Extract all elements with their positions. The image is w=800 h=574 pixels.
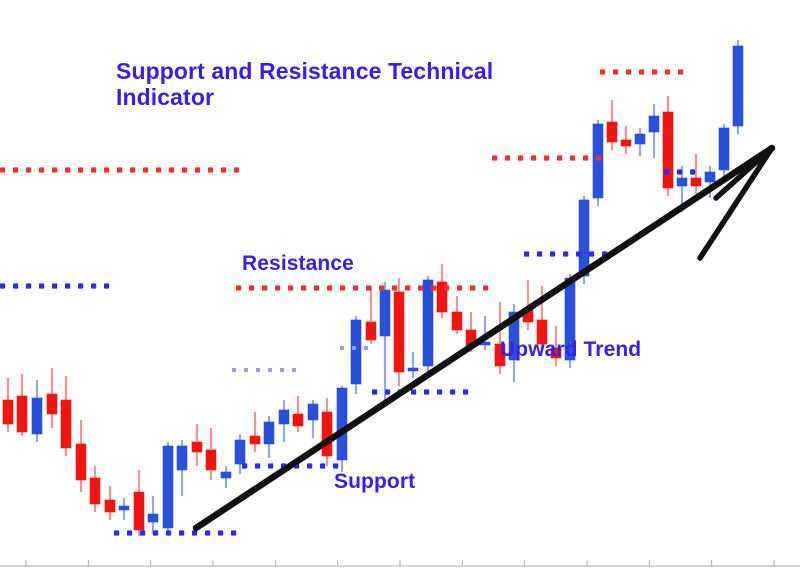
candlestick bbox=[134, 470, 144, 536]
candlestick bbox=[221, 466, 231, 488]
candlestick bbox=[177, 440, 187, 496]
candlestick bbox=[649, 104, 659, 158]
minor-level-mid bbox=[232, 368, 296, 372]
candlestick-series bbox=[3, 40, 743, 536]
resistance-level-mid bbox=[236, 285, 488, 290]
upward-trend-annotation-label: Upward Trend bbox=[500, 338, 641, 362]
candlestick bbox=[719, 124, 729, 178]
candlestick bbox=[452, 296, 462, 334]
candlestick bbox=[733, 40, 743, 134]
candlestick bbox=[408, 352, 418, 378]
candlestick bbox=[293, 396, 303, 432]
candlestick bbox=[394, 278, 404, 386]
candlestick bbox=[206, 428, 216, 480]
resistance-level-top bbox=[600, 69, 683, 74]
candlestick bbox=[32, 380, 42, 442]
candlestick bbox=[250, 412, 260, 452]
candlestick bbox=[366, 286, 376, 344]
candlestick bbox=[279, 400, 289, 442]
candlestick bbox=[593, 120, 603, 206]
support-level-left bbox=[0, 283, 109, 288]
candlestick bbox=[635, 128, 645, 156]
candlestick bbox=[192, 424, 202, 466]
candlestick bbox=[607, 100, 617, 150]
candlestick bbox=[3, 378, 13, 432]
resistance-annotation-label: Resistance bbox=[242, 252, 354, 276]
candlestick bbox=[61, 376, 71, 456]
upward-trend-arrow bbox=[196, 148, 772, 528]
candlestick bbox=[47, 368, 57, 428]
arrow-shaft bbox=[196, 148, 772, 528]
candlestick bbox=[119, 498, 129, 520]
candlestick bbox=[663, 96, 673, 196]
support-level-fourth bbox=[524, 251, 607, 256]
candlestick bbox=[621, 126, 631, 154]
resistance-level-upper bbox=[492, 155, 601, 160]
resistance-level-left bbox=[0, 167, 239, 172]
x-axis bbox=[0, 560, 800, 566]
candlestick bbox=[105, 486, 115, 520]
candlestick bbox=[163, 442, 173, 534]
minor-lines-group bbox=[232, 346, 368, 372]
page-title: Support and Resistance Technical Indicat… bbox=[116, 58, 516, 110]
candlestick bbox=[423, 276, 433, 374]
candlestick bbox=[351, 316, 361, 394]
arrow-head-lower bbox=[700, 148, 772, 258]
candlestick bbox=[264, 416, 274, 458]
support-level-third bbox=[372, 389, 468, 394]
candlestick bbox=[308, 400, 318, 438]
candlestick bbox=[380, 282, 390, 400]
candlestick bbox=[437, 264, 447, 318]
support-level-lowest bbox=[114, 530, 236, 535]
chart-canvas: Support and Resistance Technical Indicat… bbox=[0, 0, 800, 574]
candlestick bbox=[322, 398, 332, 466]
candlestick bbox=[148, 496, 158, 534]
candlestick bbox=[90, 466, 100, 512]
candlestick bbox=[17, 374, 27, 436]
minor-level-upper bbox=[340, 346, 368, 350]
candlestick bbox=[76, 420, 86, 492]
support-level-fifth bbox=[664, 169, 695, 174]
support-annotation-label: Support bbox=[334, 470, 415, 494]
